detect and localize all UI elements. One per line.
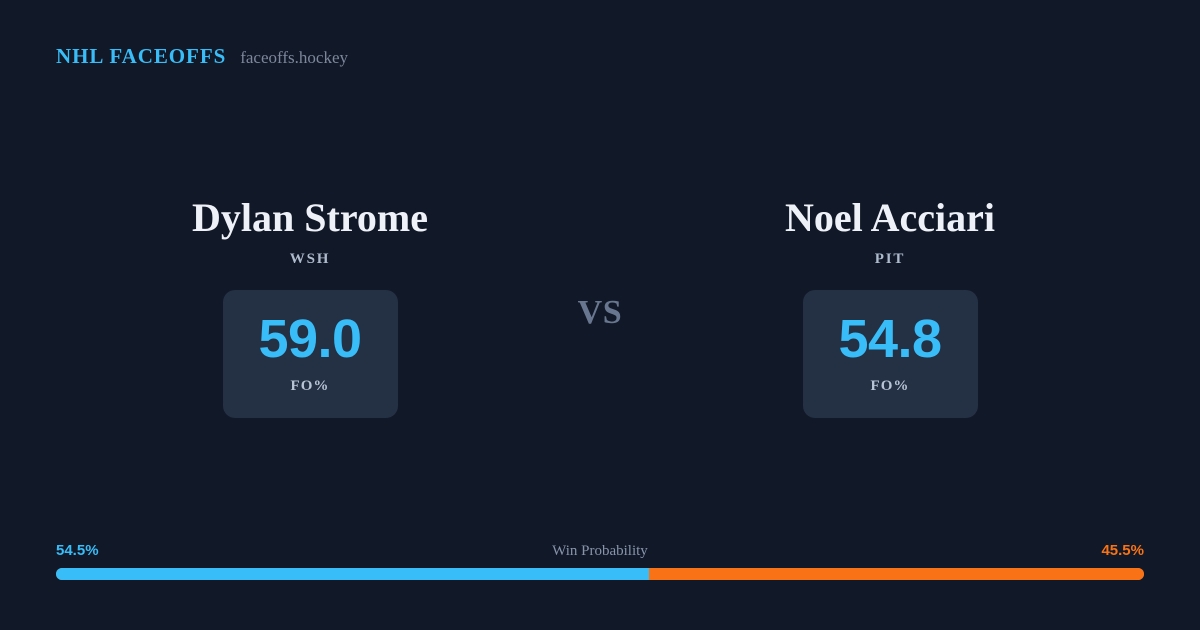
stat-card-left: 59.0 FO% — [223, 290, 398, 418]
stat-value-left: 59.0 — [259, 312, 362, 366]
vs-separator: VS — [520, 196, 680, 330]
stat-label-left: FO% — [291, 378, 330, 395]
win-probability-labels: 54.5% Win Probability 45.5% — [56, 543, 1144, 559]
player-team-right: PIT — [875, 251, 905, 268]
brand-title: NHL FACEOFFS — [56, 46, 226, 67]
win-probability-left-percent: 54.5% — [56, 543, 99, 558]
win-probability-bar — [56, 568, 1144, 580]
stat-label-right: FO% — [871, 378, 910, 395]
vs-label: VS — [578, 296, 623, 330]
win-probability-section: 54.5% Win Probability 45.5% — [56, 543, 1144, 580]
player-block-left: Dylan Strome WSH 59.0 FO% — [100, 196, 520, 418]
player-name-right: Noel Acciari — [785, 196, 995, 241]
matchup-section: Dylan Strome WSH 59.0 FO% VS Noel Acciar… — [0, 196, 1200, 418]
win-probability-right-percent: 45.5% — [1101, 543, 1144, 558]
player-block-right: Noel Acciari PIT 54.8 FO% — [680, 196, 1100, 418]
win-probability-bar-right — [649, 568, 1144, 580]
player-team-left: WSH — [290, 251, 330, 268]
brand-domain: faceoffs.hockey — [240, 49, 348, 66]
stat-card-right: 54.8 FO% — [803, 290, 978, 418]
win-probability-bar-left — [56, 568, 649, 580]
win-probability-title: Win Probability — [552, 544, 648, 559]
faceoff-matchup-card: NHL FACEOFFS faceoffs.hockey Dylan Strom… — [0, 0, 1200, 630]
stat-value-right: 54.8 — [839, 312, 942, 366]
site-header: NHL FACEOFFS faceoffs.hockey — [56, 46, 348, 67]
player-name-left: Dylan Strome — [192, 196, 428, 241]
